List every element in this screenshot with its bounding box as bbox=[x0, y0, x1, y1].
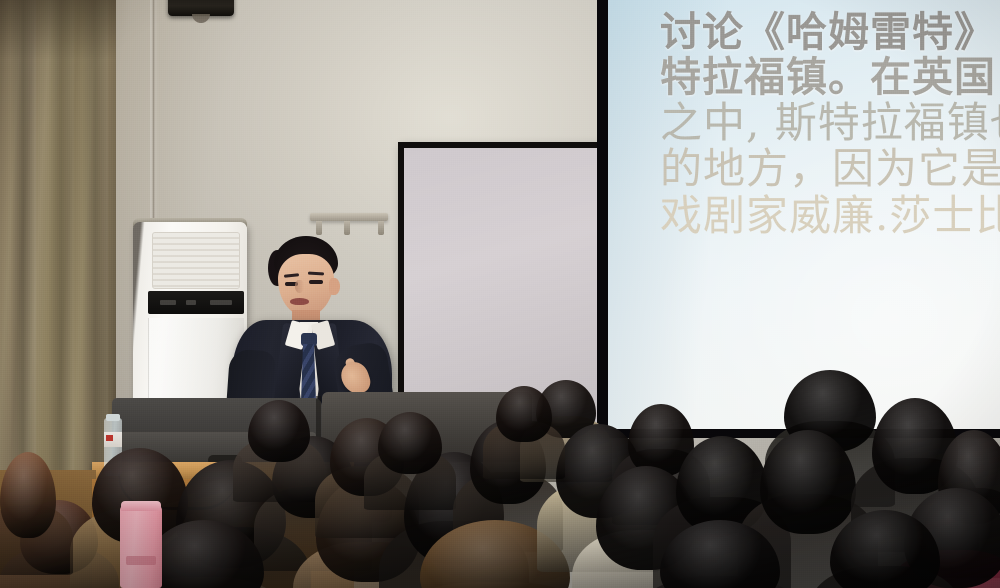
ear bbox=[329, 278, 340, 295]
beige-curtain bbox=[0, 0, 116, 470]
slide-line-5: 戏剧家威廉.莎士比 bbox=[660, 193, 1000, 239]
audience-member-head bbox=[378, 412, 442, 474]
thermos-cap bbox=[121, 501, 161, 511]
mouth bbox=[290, 298, 309, 305]
wall-mounted-rail bbox=[310, 213, 388, 221]
eye-right bbox=[309, 280, 323, 284]
bottle-cap bbox=[106, 414, 120, 421]
curtain-top-shadow bbox=[0, 0, 116, 60]
projection-screen-frame: 讨论《哈姆雷特》 特拉福镇。在英国 之中, 斯特拉福镇也 的地方，因为它是 戏剧… bbox=[597, 0, 1000, 438]
slide-text-block: 讨论《哈姆雷特》 特拉福镇。在英国 之中, 斯特拉福镇也 的地方，因为它是 戏剧… bbox=[660, 10, 1000, 239]
bottle-label-mark bbox=[106, 435, 113, 441]
ac-led-2 bbox=[186, 300, 196, 305]
slide-line-4: 的地方，因为它是 bbox=[660, 146, 1000, 192]
slide-line-2: 特拉福镇。在英国 bbox=[660, 55, 1000, 100]
thermos-label bbox=[126, 556, 156, 565]
photo-scene: 讨论《哈姆雷特》 特拉福镇。在英国 之中, 斯特拉福镇也 的地方，因为它是 戏剧… bbox=[0, 0, 1000, 588]
pink-thermos-flask bbox=[120, 505, 162, 588]
nose bbox=[295, 280, 304, 293]
wall-seam bbox=[152, 0, 155, 222]
ac-led-1 bbox=[160, 300, 176, 305]
audience-member-head bbox=[248, 400, 310, 462]
projection-screen: 讨论《哈姆雷特》 特拉福镇。在英国 之中, 斯特拉福镇也 的地方，因为它是 戏剧… bbox=[608, 0, 1000, 429]
slide-line-3: 之中, 斯特拉福镇也 bbox=[660, 100, 1000, 146]
slide-line-1: 讨论《哈姆雷特》 bbox=[660, 10, 1000, 55]
audience-member-head bbox=[496, 386, 552, 442]
